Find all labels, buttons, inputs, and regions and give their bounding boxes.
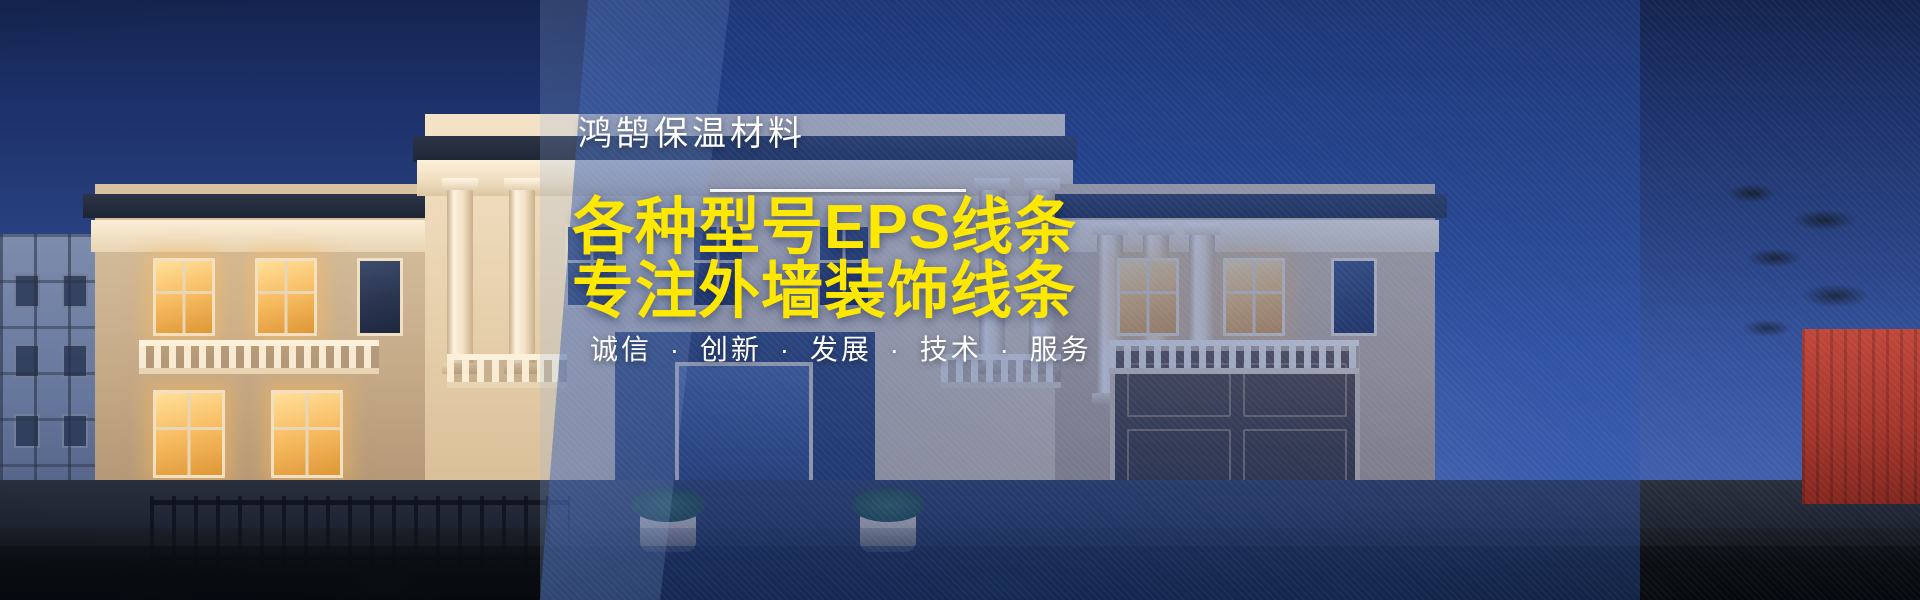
tagline-item: 服务 (1030, 334, 1092, 365)
tagline-item: 诚信 (590, 334, 652, 365)
tagline-separator: · (883, 334, 909, 365)
balustrade (139, 340, 379, 374)
headline-line-1: 各种型号EPS线条 (572, 196, 1077, 260)
tagline-separator: · (663, 334, 689, 365)
headline: 各种型号EPS线条 专注外墙装饰线条 (572, 196, 1077, 324)
tagline-item: 创新 (700, 334, 762, 365)
brand-name: 鸿鹄保温材料 (578, 106, 806, 155)
divider-rule (710, 189, 966, 192)
window-lit (271, 390, 343, 478)
banner-copy: 鸿鹄保温材料 各种型号EPS线条 专注外墙装饰线条 诚信 · 创新 · 发展 ·… (578, 0, 1578, 600)
window-lit (153, 258, 215, 336)
window-lit (153, 390, 225, 478)
headline-line-2: 专注外墙装饰线条 (572, 260, 1077, 324)
window-lit (255, 258, 317, 336)
tagline-item: 发展 (810, 334, 872, 365)
left-wing-roof (83, 194, 447, 218)
hero-banner: 鸿鹄保温材料 各种型号EPS线条 专注外墙装饰线条 诚信 · 创新 · 发展 ·… (0, 0, 1920, 600)
tagline-separator: · (993, 334, 1019, 365)
tagline-item: 技术 (920, 334, 982, 365)
window (357, 258, 403, 336)
tagline-separator: · (773, 334, 799, 365)
left-wing-cornice (91, 220, 439, 252)
tagline: 诚信 · 创新 · 发展 · 技术 · 服务 (590, 328, 1092, 368)
